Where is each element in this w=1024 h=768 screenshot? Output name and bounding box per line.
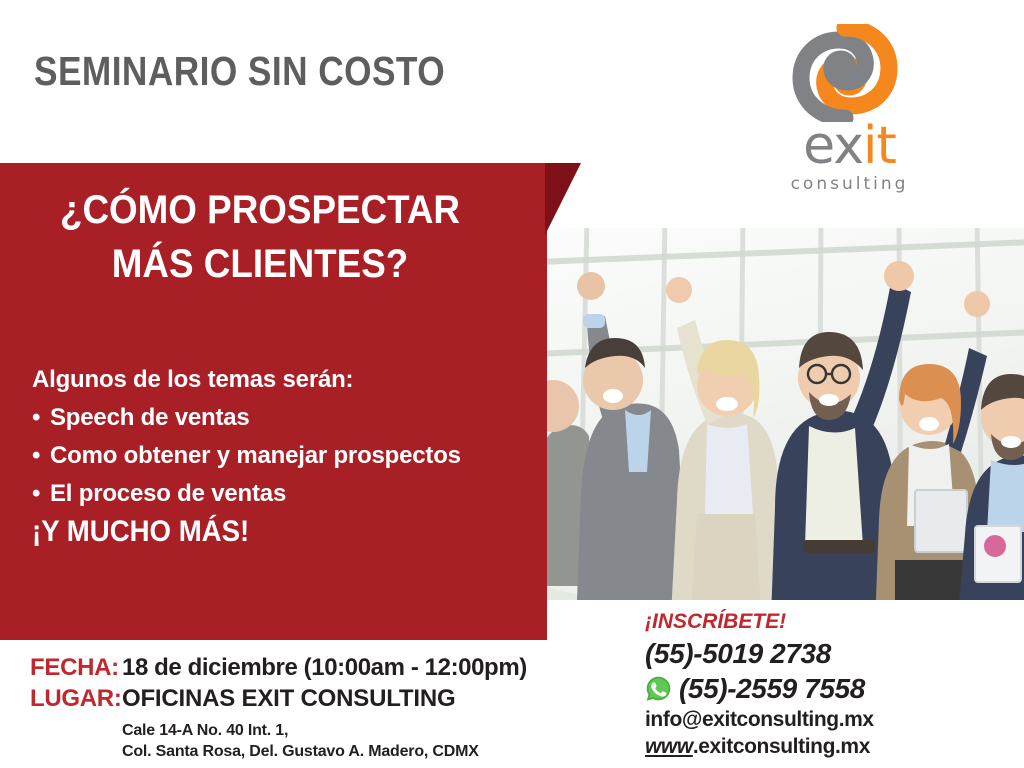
address-block: Cale 14-A No. 40 Int. 1, Col. Santa Rosa… <box>122 720 550 762</box>
address-line-1: Cale 14-A No. 40 Int. 1, <box>122 720 550 741</box>
celebrating-business-team-photo <box>547 228 1024 600</box>
logo-tagline: consulting <box>757 174 942 194</box>
list-item: El proceso de ventas <box>32 475 522 513</box>
address-line-2: Col. Santa Rosa, Del. Gustavo A. Madero,… <box>122 741 550 762</box>
ribbon-fold-shape <box>545 163 581 235</box>
email-address[interactable]: info@exitconsulting.mx <box>645 706 1015 733</box>
whatsapp-icon <box>645 675 672 702</box>
place-row: LUGAR: OFICINAS EXIT CONSULTING <box>30 683 550 714</box>
flyer-canvas: SEMINARIO SIN COSTO exit consulting <box>0 0 1024 768</box>
list-item: Como obtener y manejar prospectos <box>32 437 522 475</box>
topics-list: Speech de ventas Como obtener y manejar … <box>32 399 522 513</box>
list-item: Speech de ventas <box>32 399 522 437</box>
logo-word-ex: ex <box>803 116 863 176</box>
offer-banner: ¿CÓMO PROSPECTAR MÁS CLIENTES? Algunos d… <box>0 163 547 640</box>
phone-secondary: (55)-2559 7558 <box>679 671 865 706</box>
logo-word-it: it <box>863 116 896 176</box>
place-label: LUGAR: <box>30 683 122 714</box>
date-label: FECHA: <box>30 652 122 683</box>
date-row: FECHA: 18 de diciembre (10:00am - 12:00p… <box>30 652 550 683</box>
logo-wordmark: exit <box>757 120 942 172</box>
phone-primary[interactable]: (55)-5019 2738 <box>645 636 1015 671</box>
banner-closing-text: ¡Y MUCHO MÁS! <box>32 515 249 549</box>
contact-block: ¡INSCRÍBETE! (55)-5019 2738 (55)-2559 75… <box>645 608 1015 760</box>
signup-cta: ¡INSCRÍBETE! <box>645 608 1015 636</box>
topics-block: Algunos de los temas serán: Speech de ve… <box>32 361 522 513</box>
topics-intro: Algunos de los temas serán: <box>32 361 522 399</box>
banner-headline-line1: ¿CÓMO PROSPECTAR <box>21 183 499 237</box>
exit-consulting-logo: exit consulting <box>757 24 942 192</box>
exit-swirl-logo-mark <box>785 24 905 122</box>
banner-headline-line2: MÁS CLIENTES? <box>21 237 499 291</box>
place-value: OFICINAS EXIT CONSULTING <box>122 683 455 714</box>
date-value: 18 de diciembre (10:00am - 12:00pm) <box>122 652 527 683</box>
phone-whatsapp-row[interactable]: (55)-2559 7558 <box>645 671 1015 706</box>
website-rest: .exitconsulting.mx <box>693 735 870 758</box>
website-link[interactable]: www.exitconsulting.mx <box>645 733 1015 760</box>
event-details: FECHA: 18 de diciembre (10:00am - 12:00p… <box>30 652 550 762</box>
banner-headline: ¿CÓMO PROSPECTAR MÁS CLIENTES? <box>21 183 499 291</box>
website-prefix: www <box>645 735 693 758</box>
page-title: SEMINARIO SIN COSTO <box>34 48 445 95</box>
